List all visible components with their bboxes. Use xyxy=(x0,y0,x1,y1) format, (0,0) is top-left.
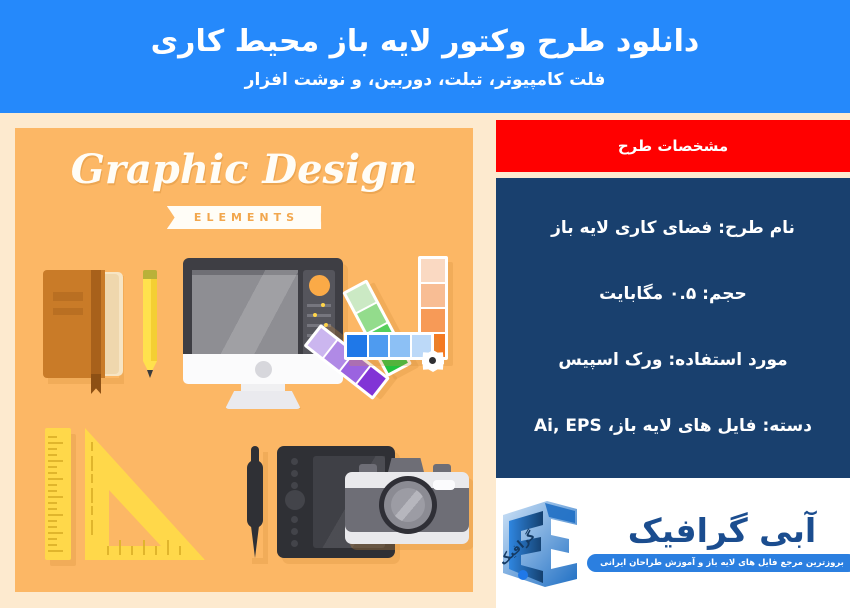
notebook-band-bottom xyxy=(53,308,83,315)
set-square-tick xyxy=(91,506,93,515)
pencil-cap xyxy=(143,270,157,279)
set-square-tick xyxy=(91,456,93,471)
set-square-tick xyxy=(91,520,93,535)
set-square-tick xyxy=(119,540,121,555)
swatch-fan-pin xyxy=(422,350,444,372)
monitor-slider-1 xyxy=(307,304,331,307)
set-square-icon xyxy=(85,428,205,560)
elements-ribbon: ELEMENTS xyxy=(167,206,321,229)
tablet-button-4 xyxy=(291,516,298,523)
notebook-icon xyxy=(43,270,119,378)
tablet-button-3 xyxy=(291,482,298,489)
spec-heading-label: مشخصات طرح xyxy=(618,137,728,155)
spec-row-name: نام طرح: فضای کاری لایه باز xyxy=(508,216,838,242)
set-square-tick xyxy=(179,546,181,555)
monitor-stand xyxy=(225,391,301,409)
camera-lens-inner xyxy=(391,488,425,522)
set-square-tick xyxy=(91,474,93,483)
camera-icon xyxy=(345,458,469,544)
tablet-button-6 xyxy=(291,540,298,547)
poster-page: دانلود طرح وکتور لایه باز محیط کاری فلت … xyxy=(0,0,850,608)
monitor-slider-2 xyxy=(307,314,331,317)
illustration-card: Graphic Design ELEMENTS xyxy=(8,121,480,599)
logo-mark-icon: گرافیک xyxy=(489,495,581,591)
page-title: دانلود طرح وکتور لایه باز محیط کاری xyxy=(111,23,740,61)
monitor-slider-dot-1 xyxy=(321,303,325,307)
page-subtitle: فلت کامپیوتر، تبلت، دوربین، و نوشت افزار xyxy=(245,70,606,90)
logo-text-block: آبی گرافیک بروزترین مرجع فایل های لایه ب… xyxy=(587,514,850,572)
stylus-barrel xyxy=(247,460,263,528)
swatch-strip-blue xyxy=(344,332,434,360)
stylus-tip xyxy=(251,526,259,558)
notebook-elastic xyxy=(91,270,101,378)
logo-tagline: بروزترین مرجع فایل های لایه باز و آموزش … xyxy=(587,554,850,572)
notebook-bookmark xyxy=(91,374,101,394)
pencil-shade xyxy=(151,279,157,361)
camera-flash xyxy=(433,480,455,490)
set-square-tick xyxy=(107,546,109,555)
set-square-tick xyxy=(155,546,157,555)
page-header: دانلود طرح وکتور لایه باز محیط کاری فلت … xyxy=(0,0,850,113)
spec-heading: مشخصات طرح xyxy=(496,120,850,172)
set-square-tick xyxy=(167,540,169,555)
tablet-button-2 xyxy=(291,470,298,477)
monitor-color-knob xyxy=(309,275,330,296)
site-logo[interactable]: آبی گرافیک بروزترین مرجع فایل های لایه ب… xyxy=(496,478,850,608)
tablet-touch-ring xyxy=(285,490,305,510)
pencil-tip xyxy=(147,370,153,378)
set-square-tick xyxy=(143,540,145,555)
set-square-tick xyxy=(131,546,133,555)
set-square-tick xyxy=(91,488,93,503)
logo-name: آبی گرافیک xyxy=(628,514,816,547)
stylus-pen-icon xyxy=(247,446,263,558)
color-swatch-fan-icon xyxy=(360,256,470,386)
tablet-button-1 xyxy=(291,458,298,465)
monitor-screen-gloss xyxy=(192,270,298,358)
illustration-canvas: Graphic Design ELEMENTS xyxy=(15,128,473,592)
pencil-icon xyxy=(143,270,157,380)
monitor-power-button xyxy=(255,361,272,378)
spec-row-size: حجم: ۰.۵ مگابایت xyxy=(508,282,838,308)
monitor-slider-dot-2 xyxy=(313,313,317,317)
spec-row-category: دسته: فایل های لایه باز، Ai, EPS xyxy=(508,414,838,440)
notebook-band-top xyxy=(53,292,83,301)
spec-panel: نام طرح: فضای کاری لایه باز حجم: ۰.۵ مگا… xyxy=(496,178,850,478)
spec-row-usage: مورد استفاده: ورک اسپیس xyxy=(508,348,838,374)
set-square-tick xyxy=(91,442,93,451)
tablet-button-5 xyxy=(291,528,298,535)
artwork-title: Graphic Design xyxy=(15,146,473,193)
ruler-icon xyxy=(45,428,71,560)
